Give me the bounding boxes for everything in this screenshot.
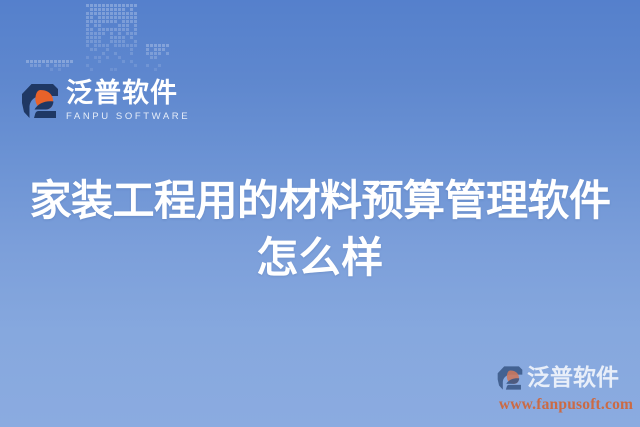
fanpu-hexagon-logo-icon [20,82,60,120]
brand-name-en: FANPU SOFTWARE [66,112,190,122]
fanpu-hexagon-logo-icon [496,365,524,391]
headline: 家装工程用的材料预算管理软件 怎么样 [0,172,640,286]
watermark-brand-name: 泛普软件 [527,367,619,390]
brand-wordmark: 泛普软件 FANPU SOFTWARE [66,80,190,122]
watermark: 泛普软件 www.fanpusoft.com [490,361,638,419]
brand-name-cn: 泛普软件 [66,80,190,107]
watermark-logo: 泛普软件 [490,361,638,395]
dot-matrix-skyline-decoration [26,0,166,72]
headline-line-1: 家装工程用的材料预算管理软件 [0,172,640,229]
promo-banner: 泛普软件 FANPU SOFTWARE 家装工程用的材料预算管理软件 怎么样 泛… [0,0,640,427]
brand-logo: 泛普软件 FANPU SOFTWARE [20,76,172,126]
headline-line-2: 怎么样 [0,229,640,286]
watermark-url: www.fanpusoft.com [490,396,638,414]
